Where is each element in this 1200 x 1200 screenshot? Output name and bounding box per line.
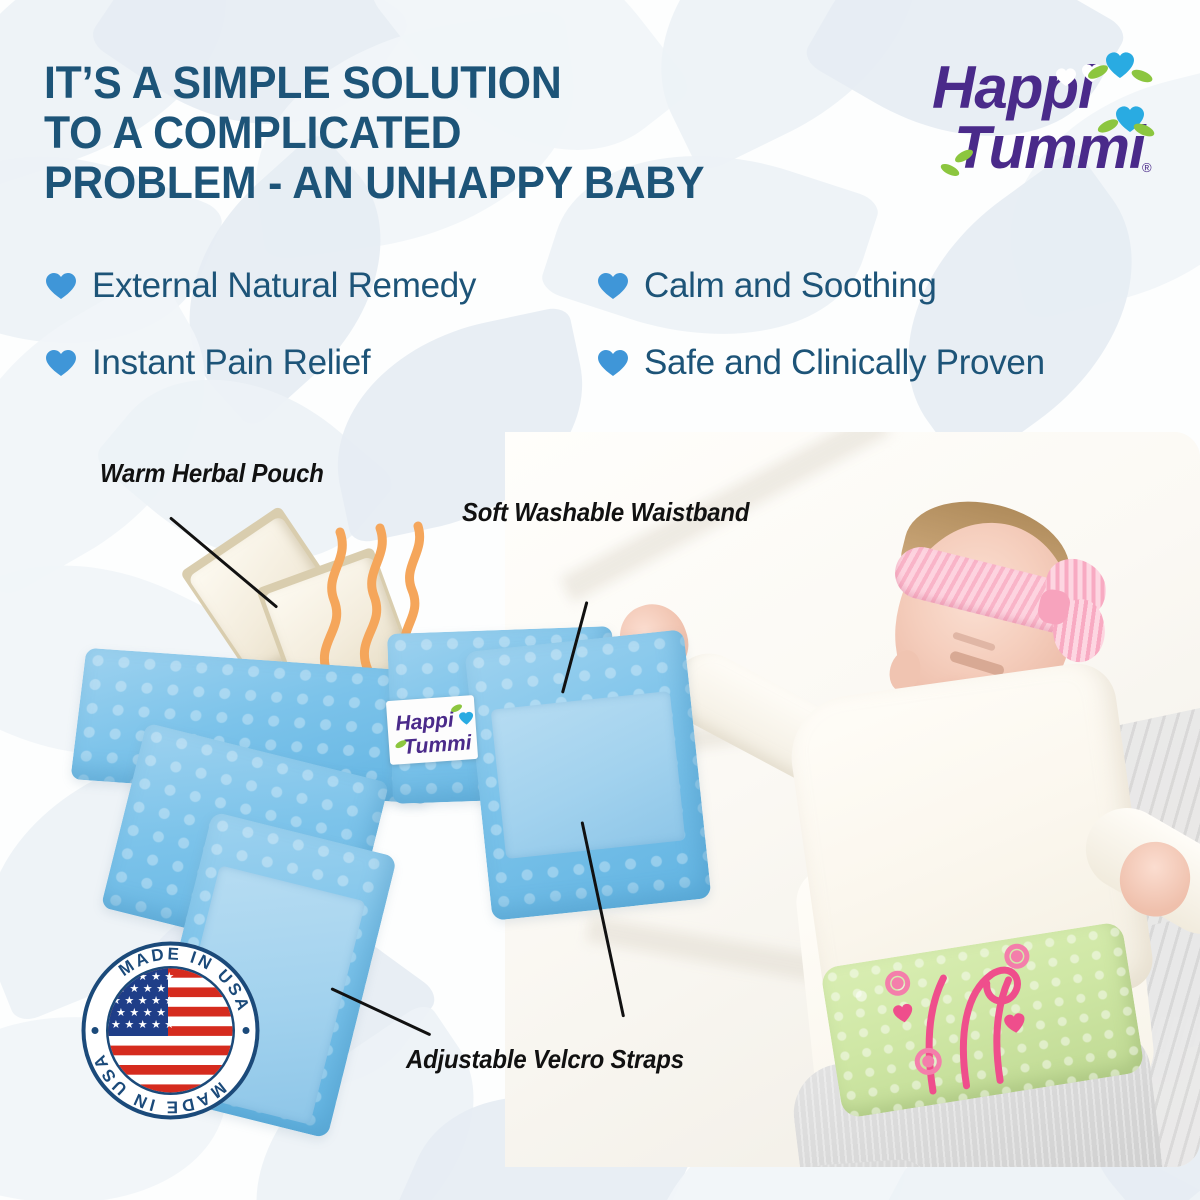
velcro-strap-right <box>491 691 686 859</box>
svg-text:★ ★ ★ ★ ★: ★ ★ ★ ★ ★ <box>111 1018 174 1031</box>
annotation-adjustable-velcro-straps: Adjustable Velcro Straps <box>406 1044 684 1075</box>
feature-item: External Natural Remedy <box>46 268 598 304</box>
feature-label: External Natural Remedy <box>92 268 476 304</box>
annotation-warm-herbal-pouch: Warm Herbal Pouch <box>100 458 324 489</box>
feature-label: Calm and Soothing <box>644 268 937 304</box>
heart-icon <box>598 273 628 300</box>
feature-label: Instant Pain Relief <box>92 345 370 381</box>
product-brand-tag: Happi Tummi <box>386 695 478 765</box>
svg-text:Happi: Happi <box>932 54 1096 121</box>
feature-item: Calm and Soothing <box>598 268 1154 304</box>
trademark-symbol: ® <box>1142 160 1152 175</box>
happi-tummi-logo: Happi Tummi ® <box>930 52 1160 187</box>
heart-icon <box>46 273 76 300</box>
infographic-canvas: IT’S A SIMPLE SOLUTION TO A COMPLICATED … <box>0 0 1200 1200</box>
tag-line-1: Happi <box>395 708 456 735</box>
made-in-usa-seal: ★ ★ ★ ★ ★ ★ ★ ★ ★ ★ ★ ★ ★ ★ ★ ★ ★ ★ ★ ★ … <box>78 938 263 1123</box>
feature-item: Safe and Clinically Proven <box>598 345 1154 381</box>
page-title: IT’S A SIMPLE SOLUTION TO A COMPLICATED … <box>44 58 704 208</box>
tag-line-2: Tummi <box>402 731 473 759</box>
feature-label: Safe and Clinically Proven <box>644 345 1045 381</box>
annotation-soft-washable-waistband: Soft Washable Waistband <box>462 497 749 528</box>
svg-text:Tummi: Tummi <box>954 114 1147 181</box>
heart-icon <box>598 350 628 377</box>
feature-item: Instant Pain Relief <box>46 345 598 381</box>
heart-icon <box>46 350 76 377</box>
feature-list: External Natural Remedy Calm and Soothin… <box>46 268 1156 381</box>
